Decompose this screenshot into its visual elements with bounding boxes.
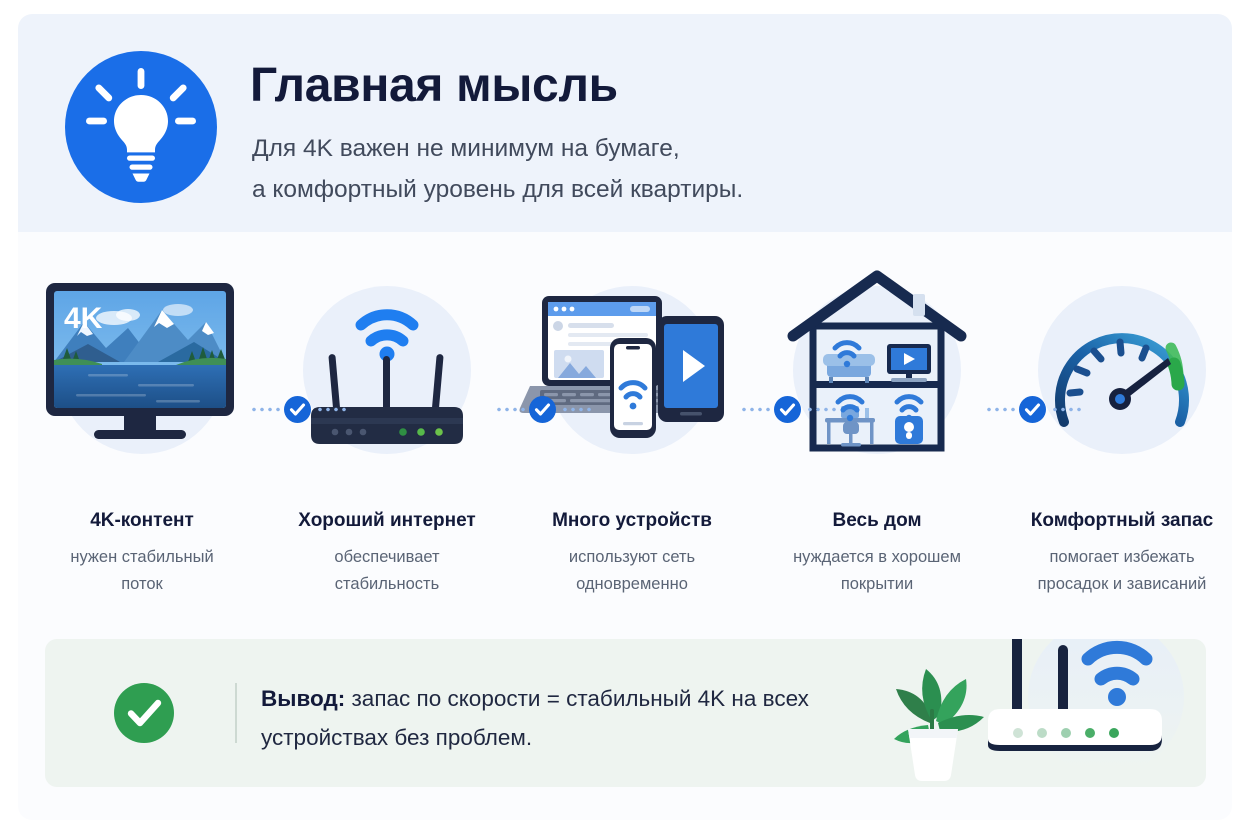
check-circle-icon [284,396,311,423]
speedometer-icon [1008,266,1232,478]
header-subtitle-line2: а комфортный уровень для всей квартиры. [252,170,743,211]
step-title: 4K-контент [28,510,256,532]
step-title: Комфортный запас [1008,510,1232,532]
connector-dots-right [316,407,346,412]
step-whole-house: Весь дом нуждается в хорошем покрытии [763,266,991,616]
conclusion-text: Вывод: запас по скорости = стабильный 4K… [261,679,841,758]
conclusion-label: Вывод: [261,686,345,711]
screen-label-4k: 4K [64,302,103,335]
step-title: Весь дом [763,510,991,532]
step-desc: нужен стабильный поток [20,544,264,597]
connector-dots-right [806,407,836,412]
infographic-card: Главная мысль Для 4K важен не минимум на… [18,14,1232,820]
step-good-internet: Хороший интернет обеспечивает стабильнос… [273,266,501,616]
connector-dots-left [250,407,280,412]
step-desc: используют сеть одновременно [510,544,754,597]
check-circle-icon [529,396,556,423]
conclusion-bar: Вывод: запас по скорости = стабильный 4K… [45,639,1206,787]
step-title: Много устройств [518,510,746,532]
connector-dots-left [495,407,525,412]
steps-row: 4K 4K-контент нужен стабильный поток [18,266,1232,616]
connector-dots-left [985,407,1015,412]
router-plant-wifi-icon [870,639,1200,787]
wifi-router-icon [273,266,501,478]
step-4k-content: 4K 4K-контент нужен стабильный поток [28,266,256,616]
page-title: Главная мысль [250,58,618,113]
step-comfort-headroom: Комфортный запас помогает избежать проса… [1008,266,1232,616]
step-desc-line1: помогает избежать [1000,544,1232,571]
connector-dots-left [740,407,770,412]
step-desc-line1: используют сеть [510,544,754,571]
connector-4 [983,389,1083,429]
multiple-devices-icon [518,266,746,478]
connector-3 [738,389,838,429]
divider [235,683,237,743]
step-desc-line2: поток [20,571,264,598]
check-circle-green-icon [114,683,174,743]
step-desc-line1: нужен стабильный [20,544,264,571]
step-desc: нуждается в хорошем покрытии [755,544,999,597]
step-desc-line2: покрытии [755,571,999,598]
connector-2 [493,389,593,429]
header-band: Главная мысль Для 4K важен не минимум на… [18,14,1232,232]
step-desc-line2: стабильность [265,571,509,598]
step-desc-line2: одновременно [510,571,754,598]
house-coverage-icon [763,266,991,478]
connector-1 [248,389,348,429]
connector-dots-right [1051,407,1081,412]
connector-dots-right [561,407,591,412]
check-circle-icon [774,396,801,423]
step-desc: помогает избежать просадок и зависаний [1000,544,1232,597]
lightbulb-icon [65,51,217,203]
step-desc-line1: нуждается в хорошем [755,544,999,571]
step-desc: обеспечивает стабильность [265,544,509,597]
step-desc-line2: просадок и зависаний [1000,571,1232,598]
tv-4k-icon: 4K [28,266,256,478]
step-many-devices: Много устройств используют сеть одноврем… [518,266,746,616]
step-desc-line1: обеспечивает [265,544,509,571]
step-title: Хороший интернет [273,510,501,532]
check-circle-icon [1019,396,1046,423]
header-subtitle: Для 4K важен не минимум на бумаге, а ком… [252,129,743,210]
header-subtitle-line1: Для 4K важен не минимум на бумаге, [252,129,743,170]
